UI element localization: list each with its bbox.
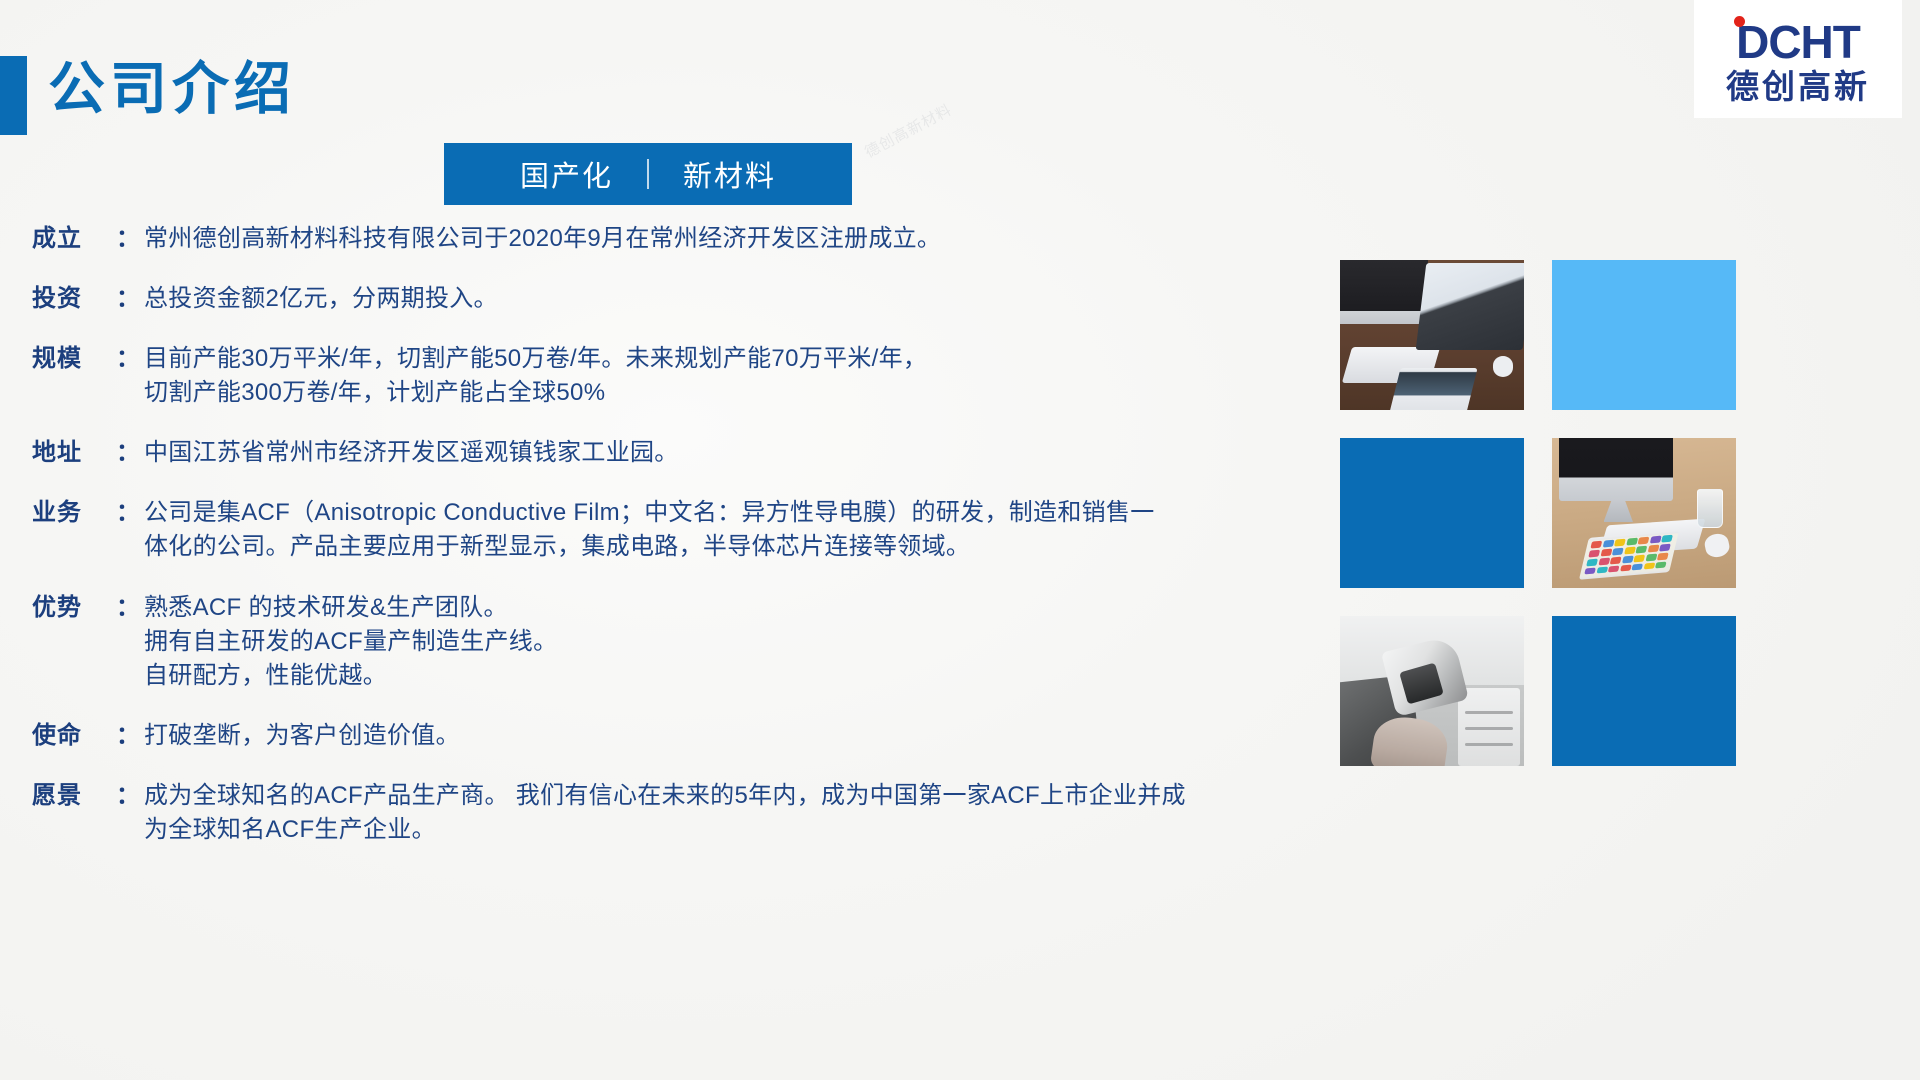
- info-row-scale: 规模 ： 目前产能30万平米/年，切割产能50万卷/年。未来规划产能70万平米/…: [32, 342, 1302, 410]
- company-logo: DCHT 德创高新: [1694, 0, 1902, 118]
- gallery-color-block-blue-left: [1340, 438, 1524, 588]
- info-colon: ：: [116, 719, 144, 753]
- app-icon: [1655, 561, 1667, 569]
- image-gallery: [1340, 260, 1736, 766]
- info-label: 优势: [32, 591, 116, 625]
- app-icon: [1634, 554, 1646, 562]
- glass-shape: [1697, 489, 1723, 528]
- app-icon: [1624, 547, 1636, 555]
- mouse-shape: [1703, 532, 1731, 559]
- tablet-shape: [1390, 368, 1478, 410]
- banner-label-left: 国产化: [486, 153, 647, 195]
- app-icon: [1596, 566, 1608, 574]
- app-icon: [1643, 562, 1655, 570]
- app-icon: [1632, 563, 1644, 571]
- app-icon: [1646, 553, 1658, 561]
- info-text: 公司是集ACF（Anisotropic Conductive Film；中文名：…: [144, 496, 1302, 564]
- logo-chinese-name: 德创高新: [1726, 70, 1870, 103]
- info-colon: ：: [116, 222, 144, 256]
- app-icon: [1591, 541, 1603, 549]
- app-icon: [1608, 565, 1620, 573]
- app-icon: [1603, 540, 1615, 548]
- info-colon: ：: [116, 779, 144, 813]
- info-row-address: 地址 ： 中国江苏省常州市经济开发区遥观镇钱家工业园。: [32, 436, 1302, 470]
- app-icon: [1585, 567, 1597, 575]
- gallery-color-block-light-blue: [1552, 260, 1736, 410]
- info-row-investment: 投资 ： 总投资金额2亿元，分两期投入。: [32, 282, 1302, 316]
- app-icon: [1599, 557, 1611, 565]
- background-watermark: 德创高新材料: [861, 99, 956, 163]
- info-label: 规模: [32, 342, 116, 376]
- app-icon: [1622, 555, 1634, 563]
- app-icon: [1610, 556, 1622, 564]
- info-row-mission: 使命 ： 打破垄断，为客户创造价值。: [32, 719, 1302, 753]
- app-icon: [1650, 536, 1662, 544]
- info-text: 成为全球知名的ACF产品生产商。 我们有信心在未来的5年内，成为中国第一家ACF…: [144, 779, 1302, 847]
- company-info-list: 成立 ： 常州德创高新材料科技有限公司于2020年9月在常州经济开发区注册成立。…: [32, 222, 1302, 873]
- cabinet-shape: [1458, 688, 1521, 766]
- info-label: 投资: [32, 282, 116, 316]
- logo-wordmark: DCHT: [1736, 19, 1860, 65]
- info-text: 熟悉ACF 的技术研发&生产团队。 拥有自主研发的ACF量产制造生产线。 自研配…: [144, 591, 1302, 693]
- gallery-photo-desk-imac-laptop-tablet: [1340, 260, 1524, 410]
- app-icon: [1659, 544, 1671, 552]
- info-label: 地址: [32, 436, 116, 470]
- info-text: 总投资金额2亿元，分两期投入。: [144, 282, 1302, 316]
- info-colon: ：: [116, 436, 144, 470]
- section-banner: 国产化 新材料: [444, 143, 852, 205]
- info-text: 中国江苏省常州市经济开发区遥观镇钱家工业园。: [144, 436, 1302, 470]
- mouse-shape: [1493, 356, 1513, 377]
- info-text: 常州德创高新材料科技有限公司于2020年9月在常州经济开发区注册成立。: [144, 222, 1302, 256]
- app-icon: [1638, 537, 1650, 545]
- app-icon: [1612, 548, 1624, 556]
- title-accent-bar: [0, 56, 27, 135]
- banner-label-right: 新材料: [649, 153, 810, 195]
- app-icon: [1587, 558, 1599, 566]
- gallery-color-block-blue-right: [1552, 616, 1736, 766]
- info-label: 愿景: [32, 779, 116, 813]
- app-icon: [1589, 550, 1601, 558]
- info-colon: ：: [116, 591, 144, 625]
- app-icon: [1614, 539, 1626, 547]
- info-colon: ：: [116, 282, 144, 316]
- info-label: 使命: [32, 719, 116, 753]
- tablet-shape: [1579, 530, 1679, 580]
- gallery-photo-desk-imac-keyboard-tablet: [1552, 438, 1736, 588]
- app-icon: [1648, 545, 1660, 553]
- app-icon: [1620, 564, 1632, 572]
- app-icon: [1601, 549, 1613, 557]
- info-row-business: 业务 ： 公司是集ACF（Anisotropic Conductive Film…: [32, 496, 1302, 564]
- info-label: 业务: [32, 496, 116, 530]
- app-icon: [1626, 538, 1638, 546]
- gallery-photo-medical-robot-arm-hand: [1340, 616, 1524, 766]
- info-row-advantage: 优势 ： 熟悉ACF 的技术研发&生产团队。 拥有自主研发的ACF量产制造生产线…: [32, 591, 1302, 693]
- page-title: 公司介绍: [48, 48, 296, 131]
- info-label: 成立: [32, 222, 116, 256]
- app-icon: [1657, 552, 1669, 560]
- app-icon: [1636, 546, 1648, 554]
- info-colon: ：: [116, 342, 144, 376]
- info-colon: ：: [116, 496, 144, 530]
- info-row-founding: 成立 ： 常州德创高新材料科技有限公司于2020年9月在常州经济开发区注册成立。: [32, 222, 1302, 256]
- info-row-vision: 愿景 ： 成为全球知名的ACF产品生产商。 我们有信心在未来的5年内，成为中国第…: [32, 779, 1302, 847]
- info-text: 打破垄断，为客户创造价值。: [144, 719, 1302, 753]
- info-text: 目前产能30万平米/年，切割产能50万卷/年。未来规划产能70万平米/年， 切割…: [144, 342, 1302, 410]
- logo-wordmark-text: DCHT: [1736, 16, 1860, 68]
- app-icon: [1662, 535, 1674, 543]
